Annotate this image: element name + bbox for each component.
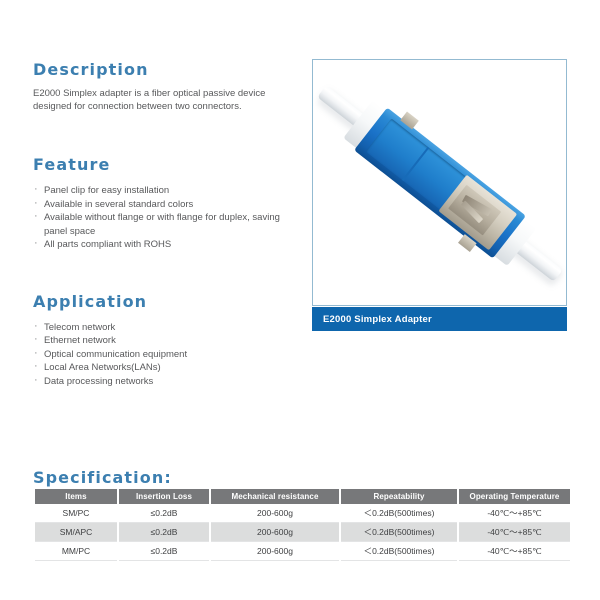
specification-heading: Specification: bbox=[33, 468, 172, 487]
cell-operating-temperature: -40℃～+85℃ bbox=[459, 504, 570, 523]
list-item: Available without flange or with flange … bbox=[33, 211, 303, 238]
column-header-items: Items bbox=[35, 489, 117, 504]
list-item: Ethernet network bbox=[33, 334, 303, 348]
feature-block: Feature Panel clip for easy installation… bbox=[33, 155, 303, 252]
application-list: Telecom network Ethernet network Optical… bbox=[33, 321, 303, 389]
feature-item-text: Panel clip for easy installation bbox=[44, 185, 169, 196]
feature-list: Panel clip for easy installation Availab… bbox=[33, 184, 303, 252]
application-item-text: Optical communication equipment bbox=[44, 349, 187, 360]
list-item: Optical communication equipment bbox=[33, 348, 303, 362]
list-item: Panel clip for easy installation bbox=[33, 184, 303, 198]
feature-item-text: All parts compliant with ROHS bbox=[44, 239, 171, 250]
feature-item-text: Available in several standard colors bbox=[44, 199, 193, 210]
list-item: Available in several standard colors bbox=[33, 198, 303, 212]
cell-operating-temperature: -40℃～+85℃ bbox=[459, 523, 570, 542]
description-block: Description E2000 Simplex adapter is a f… bbox=[33, 60, 303, 113]
specification-heading-wrap: Specification: bbox=[33, 468, 172, 487]
cell-operating-temperature: -40℃～+85℃ bbox=[459, 542, 570, 561]
cell-insertion-loss: ≤0.2dB bbox=[119, 523, 209, 542]
cell-repeatability: ＜0.2dB(500times) bbox=[341, 504, 457, 523]
product-photo bbox=[313, 60, 566, 305]
cell-repeatability: ＜0.2dB(500times) bbox=[341, 542, 457, 561]
table-row: SM/PC ≤0.2dB 200-600g ＜0.2dB(500times) -… bbox=[35, 504, 570, 523]
cell-items: MM/PC bbox=[35, 542, 117, 561]
cell-insertion-loss: ≤0.2dB bbox=[119, 504, 209, 523]
adapter-assembly bbox=[354, 107, 526, 258]
specification-table: Items Insertion Loss Mechanical resistan… bbox=[33, 489, 572, 561]
product-caption-bar: E2000 Simplex Adapter bbox=[312, 307, 567, 331]
feature-item-text: Available without flange or with flange … bbox=[44, 212, 280, 237]
column-header-operating-temperature: Operating Temperature bbox=[459, 489, 570, 504]
cell-items: SM/APC bbox=[35, 523, 117, 542]
table-row: MM/PC ≤0.2dB 200-600g ＜0.2dB(500times) -… bbox=[35, 542, 570, 561]
cell-mechanical-resistance: 200-600g bbox=[211, 523, 339, 542]
list-item: Local Area Networks(LANs) bbox=[33, 361, 303, 375]
list-item: Telecom network bbox=[33, 321, 303, 335]
application-item-text: Telecom network bbox=[44, 322, 115, 333]
table-header-row: Items Insertion Loss Mechanical resistan… bbox=[35, 489, 570, 504]
product-caption-text: E2000 Simplex Adapter bbox=[323, 314, 432, 325]
column-header-repeatability: Repeatability bbox=[341, 489, 457, 504]
cell-mechanical-resistance: 200-600g bbox=[211, 542, 339, 561]
cell-insertion-loss: ≤0.2dB bbox=[119, 542, 209, 561]
description-body: E2000 Simplex adapter is a fiber optical… bbox=[33, 88, 303, 113]
table-header: Items Insertion Loss Mechanical resistan… bbox=[35, 489, 570, 504]
cell-repeatability: ＜0.2dB(500times) bbox=[341, 523, 457, 542]
cell-mechanical-resistance: 200-600g bbox=[211, 504, 339, 523]
application-heading: Application bbox=[33, 292, 303, 311]
application-item-text: Ethernet network bbox=[44, 335, 116, 346]
application-block: Application Telecom network Ethernet net… bbox=[33, 292, 303, 389]
datasheet-page: Description E2000 Simplex adapter is a f… bbox=[0, 0, 600, 600]
feature-heading: Feature bbox=[33, 155, 303, 174]
table-body: SM/PC ≤0.2dB 200-600g ＜0.2dB(500times) -… bbox=[35, 504, 570, 561]
list-item: All parts compliant with ROHS bbox=[33, 238, 303, 252]
column-header-mechanical-resistance: Mechanical resistance bbox=[211, 489, 339, 504]
application-item-text: Local Area Networks(LANs) bbox=[44, 362, 161, 373]
description-heading: Description bbox=[33, 60, 303, 79]
cell-items: SM/PC bbox=[35, 504, 117, 523]
application-item-text: Data processing networks bbox=[44, 376, 153, 387]
table-row: SM/APC ≤0.2dB 200-600g ＜0.2dB(500times) … bbox=[35, 523, 570, 542]
list-item: Data processing networks bbox=[33, 375, 303, 389]
column-header-insertion-loss: Insertion Loss bbox=[119, 489, 209, 504]
left-content-column: Description E2000 Simplex adapter is a f… bbox=[33, 60, 303, 388]
product-image-frame bbox=[312, 59, 567, 306]
